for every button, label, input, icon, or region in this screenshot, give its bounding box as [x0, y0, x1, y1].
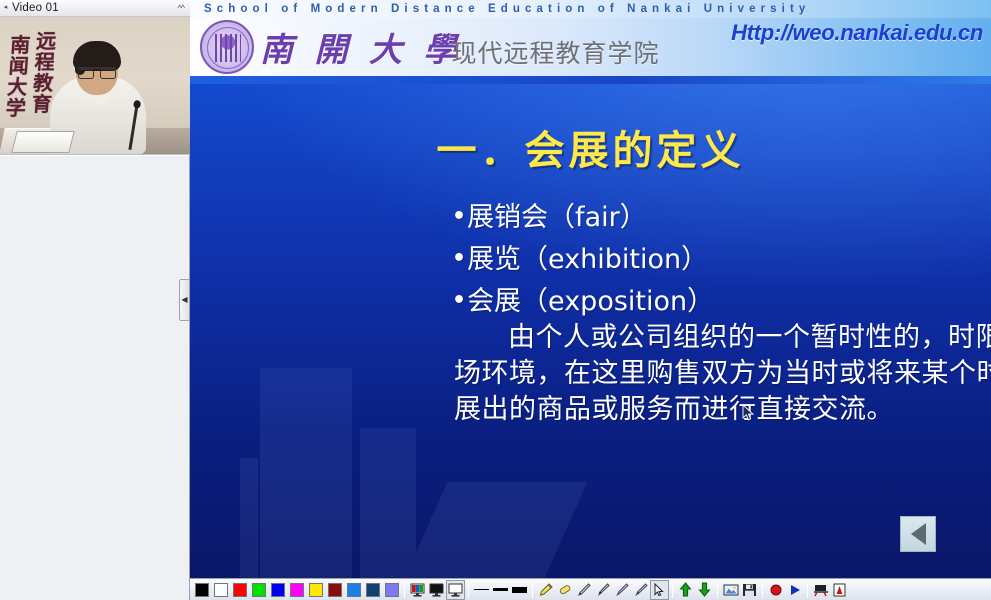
- video-panel-title: Video 01: [9, 2, 178, 14]
- toolbar-separator: [717, 582, 718, 598]
- annotation-toolbar[interactable]: [190, 578, 991, 600]
- pointer-icon[interactable]: [650, 580, 669, 600]
- toolbar-separator: [672, 582, 673, 598]
- list-item: •展销会（fair）: [452, 196, 714, 238]
- video-panel-titlebar[interactable]: ◂ Video 01 ^^: [0, 0, 190, 17]
- line-medium-icon[interactable]: [491, 580, 510, 600]
- laptop: [11, 131, 74, 153]
- swatch-color-black[interactable]: [192, 580, 211, 600]
- slide-header-band: School of Modern Distance Education of N…: [190, 0, 991, 84]
- brush-icon[interactable]: [593, 580, 612, 600]
- triangle-left-icon[interactable]: ◂: [2, 2, 9, 14]
- projector-icon[interactable]: [811, 580, 830, 600]
- lecturer-glasses: [78, 67, 116, 75]
- arrow-down-icon[interactable]: [695, 580, 714, 600]
- line-thin-icon[interactable]: [472, 580, 491, 600]
- play-icon[interactable]: [785, 580, 804, 600]
- slide-title: 一．会展的定义: [190, 118, 991, 176]
- swatch-color-dark-red[interactable]: [325, 580, 344, 600]
- eraser-icon[interactable]: [555, 580, 574, 600]
- toolbar-separator: [807, 582, 808, 598]
- header-bottom-strip: [190, 76, 991, 84]
- pdf-icon[interactable]: [830, 580, 849, 600]
- swatch-color-azure[interactable]: [344, 580, 363, 600]
- presentation-slide[interactable]: School of Modern Distance Education of N…: [190, 0, 991, 578]
- swatch-color-yellow[interactable]: [306, 580, 325, 600]
- toolbar-separator: [468, 582, 469, 598]
- collapse-left-icon: ◀: [181, 296, 187, 304]
- swatch-color-green[interactable]: [249, 580, 268, 600]
- list-item: •展览（exhibition）: [452, 238, 714, 280]
- list-item-label: 会展（exposition）: [467, 286, 714, 317]
- previous-slide-button[interactable]: [900, 516, 936, 552]
- arrow-up-icon[interactable]: [676, 580, 695, 600]
- sidebar-collapse-handle[interactable]: ◀: [179, 279, 190, 321]
- image-icon[interactable]: [721, 580, 740, 600]
- list-item: •会展（exposition）: [452, 280, 714, 322]
- bullet-marker: •: [452, 288, 466, 313]
- swatch-color-navy[interactable]: [363, 580, 382, 600]
- video-panel: ◂ Video 01 ^^ 南闻大学 远程教育: [0, 0, 190, 155]
- marker-icon[interactable]: [612, 580, 631, 600]
- toolbar-separator: [532, 582, 533, 598]
- chevron-up-icon[interactable]: ^^: [178, 4, 186, 13]
- pen-icon[interactable]: [574, 580, 593, 600]
- screen-white-icon[interactable]: [446, 580, 465, 600]
- highlighter-icon[interactable]: [536, 580, 555, 600]
- sidebar-empty-area: [0, 155, 189, 600]
- university-name-cn: 南 開 大 學: [260, 23, 461, 71]
- courseware-player-window: ◂ Video 01 ^^ 南闻大学 远程教育 ◀: [0, 0, 991, 600]
- swatch-color-magenta[interactable]: [287, 580, 306, 600]
- slide-stage: School of Modern Distance Education of N…: [190, 0, 991, 600]
- nankai-seal-icon: [200, 20, 254, 74]
- left-sidebar: ◂ Video 01 ^^ 南闻大学 远程教育 ◀: [0, 0, 190, 600]
- list-item-label: 展销会（fair）: [467, 202, 647, 233]
- school-name-cn: 现代远程教育学院: [451, 34, 659, 70]
- list-item-label: 展览（exhibition）: [467, 244, 708, 275]
- bullet-marker: •: [452, 204, 466, 229]
- screen-color-icon[interactable]: [408, 580, 427, 600]
- website-url: Http://weo.nankai.edu.cn: [731, 20, 983, 46]
- bullet-list: •展销会（fair） •展览（exhibition） •会展（expositio…: [452, 196, 714, 322]
- record-icon[interactable]: [766, 580, 785, 600]
- crayon-icon[interactable]: [631, 580, 650, 600]
- screen-black-icon[interactable]: [427, 580, 446, 600]
- swatch-color-red[interactable]: [230, 580, 249, 600]
- swatch-color-white[interactable]: [211, 580, 230, 600]
- english-banner: School of Modern Distance Education of N…: [190, 0, 991, 18]
- toolbar-separator: [762, 582, 763, 598]
- swatch-color-blue[interactable]: [268, 580, 287, 600]
- toolbar-separator: [404, 582, 405, 598]
- english-banner-text: School of Modern Distance Education of N…: [190, 3, 810, 15]
- triangle-left-icon: [911, 523, 926, 545]
- save-icon[interactable]: [740, 580, 759, 600]
- slide-paragraph: 由个人或公司组织的一个暂时性的，时限灵活的市场环境，在这里购售双方为当时或将来某…: [454, 320, 991, 428]
- line-thick-icon[interactable]: [510, 580, 529, 600]
- video-still[interactable]: 南闻大学 远程教育: [0, 17, 190, 154]
- swatch-color-periwinkle[interactable]: [382, 580, 401, 600]
- bullet-marker: •: [452, 246, 466, 271]
